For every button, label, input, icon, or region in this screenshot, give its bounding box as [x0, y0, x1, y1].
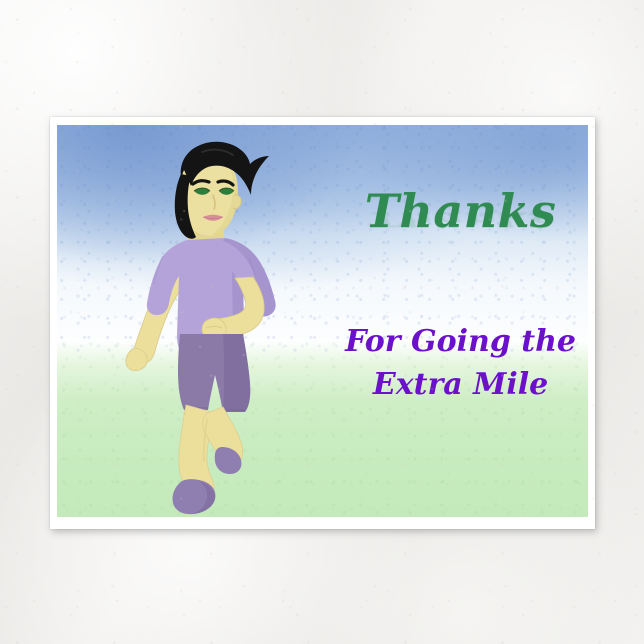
postcard-artwork: Thanks Thanks For Going the Extra Mile: [57, 125, 588, 517]
boy-ear: [233, 195, 241, 209]
postcard[interactable]: Thanks Thanks For Going the Extra Mile: [50, 117, 595, 529]
product-photo-backdrop: Thanks Thanks For Going the Extra Mile: [0, 0, 644, 644]
running-boy-illustration: [103, 129, 318, 517]
boy-shorts-shading: [223, 334, 250, 412]
